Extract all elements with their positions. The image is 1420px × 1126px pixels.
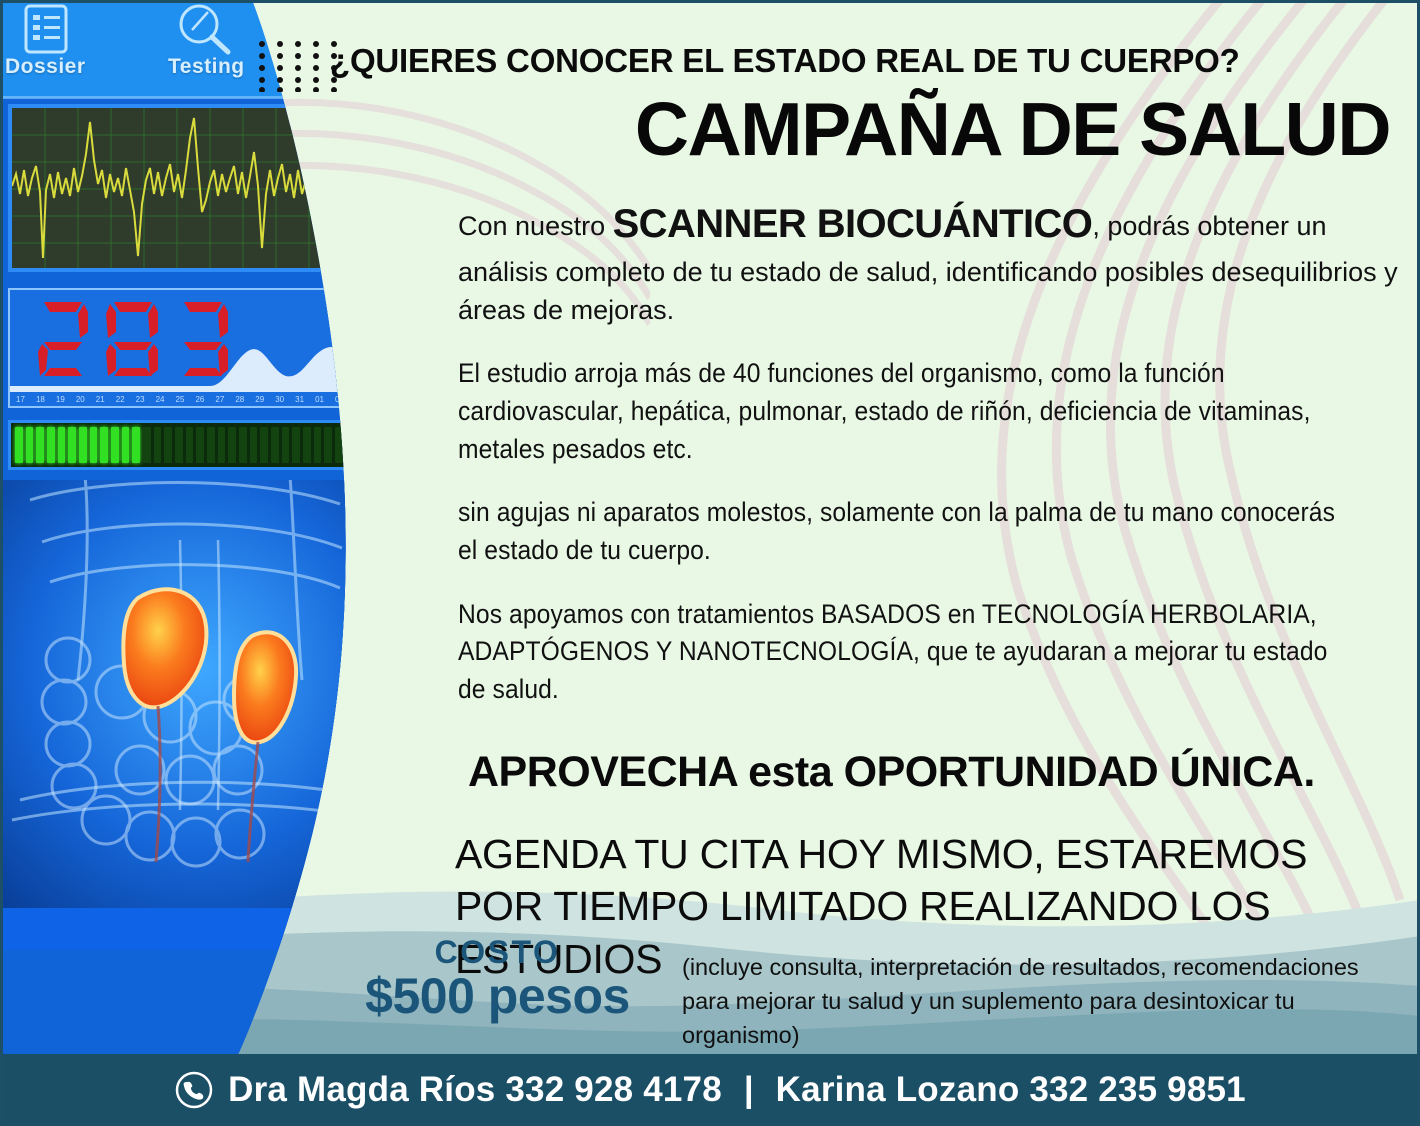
poster-content: ¿QUIERES CONOCER EL ESTADO REAL DE TU CU…	[0, 0, 1420, 1055]
paragraph-1-lead: Con nuestro	[458, 211, 613, 241]
cta-strong: APROVECHA esta OPORTUNIDAD ÚNICA.	[468, 748, 1403, 797]
kicker-question: ¿QUIERES CONOCER EL ESTADO REAL DE TU CU…	[330, 44, 1400, 79]
footer-separator: |	[736, 1070, 762, 1110]
price-block: COSTO $500 pesos	[325, 936, 670, 1023]
body-copy: Con nuestro SCANNER BIOCUÁNTICO, podrás …	[458, 196, 1403, 734]
contact-footer: Dra Magda Ríos 332 928 4178 | Karina Loz…	[0, 1054, 1420, 1126]
contact-primary[interactable]: Dra Magda Ríos 332 928 4178	[228, 1070, 722, 1110]
paragraph-1: Con nuestro SCANNER BIOCUÁNTICO, podrás …	[458, 196, 1403, 329]
paragraph-2: El estudio arroja más de 40 funciones de…	[458, 355, 1337, 468]
page-title: CAMPAÑA DE SALUD	[330, 92, 1390, 167]
footer-inner: Dra Magda Ríos 332 928 4178 | Karina Loz…	[174, 1070, 1246, 1110]
poster-canvas: Dossier Testing	[0, 0, 1420, 1126]
scanner-emphasis: SCANNER BIOCUÁNTICO	[613, 202, 1093, 246]
price-amount: $500 pesos	[325, 970, 670, 1023]
price-disclaimer: (incluye consulta, interpretación de res…	[682, 950, 1408, 1052]
phone-icon[interactable]	[174, 1070, 214, 1110]
paragraph-3: sin agujas ni aparatos molestos, solamen…	[458, 494, 1337, 569]
paragraph-4: Nos apoyamos con tratamientos BASADOS en…	[458, 596, 1337, 709]
contact-secondary[interactable]: Karina Lozano 332 235 9851	[776, 1070, 1246, 1110]
price-label: COSTO	[325, 936, 670, 968]
